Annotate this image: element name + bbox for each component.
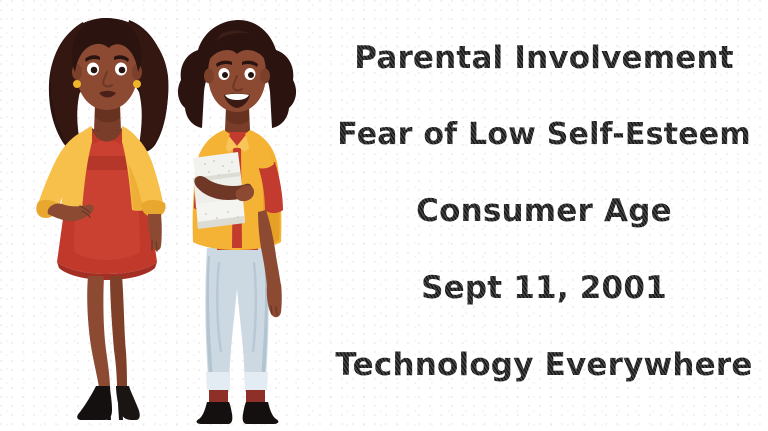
man-shoe-left [197,402,233,424]
man-ear-right [260,69,270,84]
slide-canvas: Parental Involvement Fear of Low Self-Es… [0,0,768,431]
man-sock-left [209,390,228,404]
man-cuff-left [206,372,230,390]
headline-list: Parental Involvement Fear of Low Self-Es… [330,42,758,382]
headline-sept-11-2001: Sept 11, 2001 [330,272,758,305]
man-ear-left [204,69,214,84]
two-people-illustration [0,0,320,431]
man-sock-right [246,390,265,404]
man-pupil-right [248,72,254,78]
headline-consumer-age: Consumer Age [330,195,758,228]
man-cuff-right [244,372,268,390]
headline-parental-involvement: Parental Involvement [330,42,758,75]
man-jeans [205,248,268,392]
man-pupil-left [222,72,228,78]
woman-pupil-right [119,67,126,74]
man-hand-right [267,284,282,317]
man-shoe-right [243,402,279,424]
earring-right-icon [133,80,141,88]
woman-leg-left [87,276,110,388]
earring-left-icon [73,80,81,88]
illustration-container [0,0,320,431]
headline-technology-everywhere: Technology Everywhere [330,349,758,382]
woman-figure [36,18,168,420]
man-figure [178,20,296,424]
woman-ear-right [132,64,142,80]
woman-pupil-left [91,67,98,74]
woman-leg-right [110,276,127,388]
headline-fear-of-low-self-esteem: Fear of Low Self-Esteem [330,119,758,151]
